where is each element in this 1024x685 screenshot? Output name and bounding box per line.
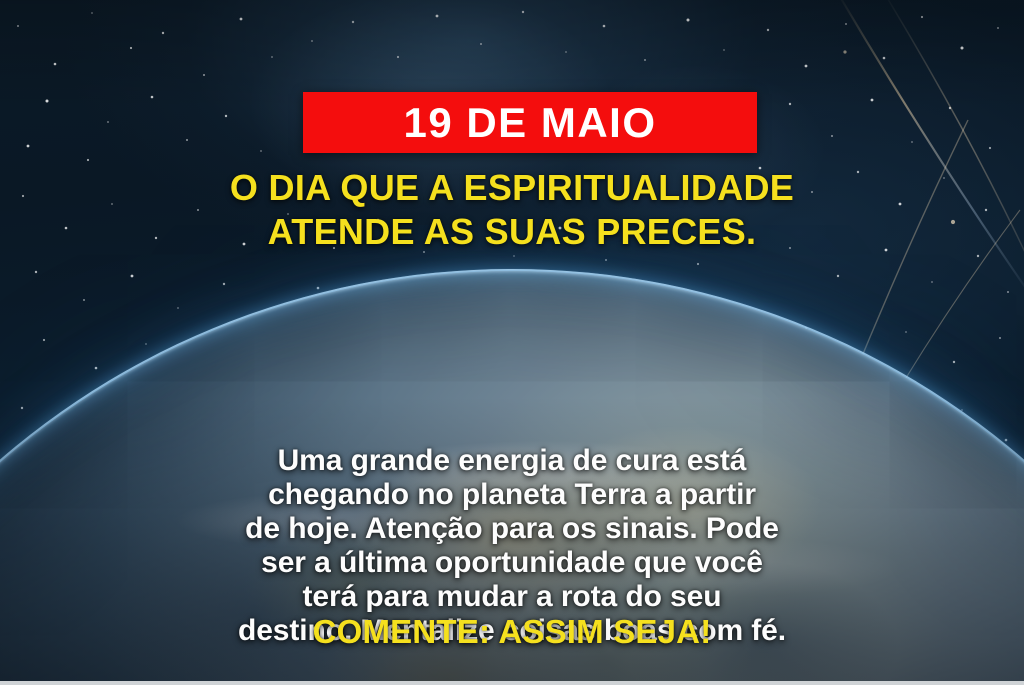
body-line-1: Uma grande energia de cura está [0,444,1024,478]
body-line-2: chegando no planeta Terra a partir [0,478,1024,512]
body-line-5: terá para mudar a rota do seu [0,580,1024,614]
headline: O DIA QUE A ESPIRITUALIDADE ATENDE AS SU… [0,166,1024,253]
body-line-4: ser a última oportunidade que você [0,546,1024,580]
poster-canvas: 19 DE MAIO O DIA QUE A ESPIRITUALIDADE A… [0,0,1024,685]
body-line-3: de hoje. Atenção para os sinais. Pode [0,512,1024,546]
headline-line-1: O DIA QUE A ESPIRITUALIDADE [0,166,1024,210]
date-banner-label: 19 DE MAIO [403,102,656,144]
call-to-action-text: COMENTE: ASSIM SEJA! [0,615,1024,648]
headline-line-2: ATENDE AS SUAS PRECES. [0,210,1024,254]
poster-content: 19 DE MAIO O DIA QUE A ESPIRITUALIDADE A… [0,0,1024,685]
date-banner: 19 DE MAIO [303,92,757,153]
bottom-edge-strip [0,681,1024,685]
